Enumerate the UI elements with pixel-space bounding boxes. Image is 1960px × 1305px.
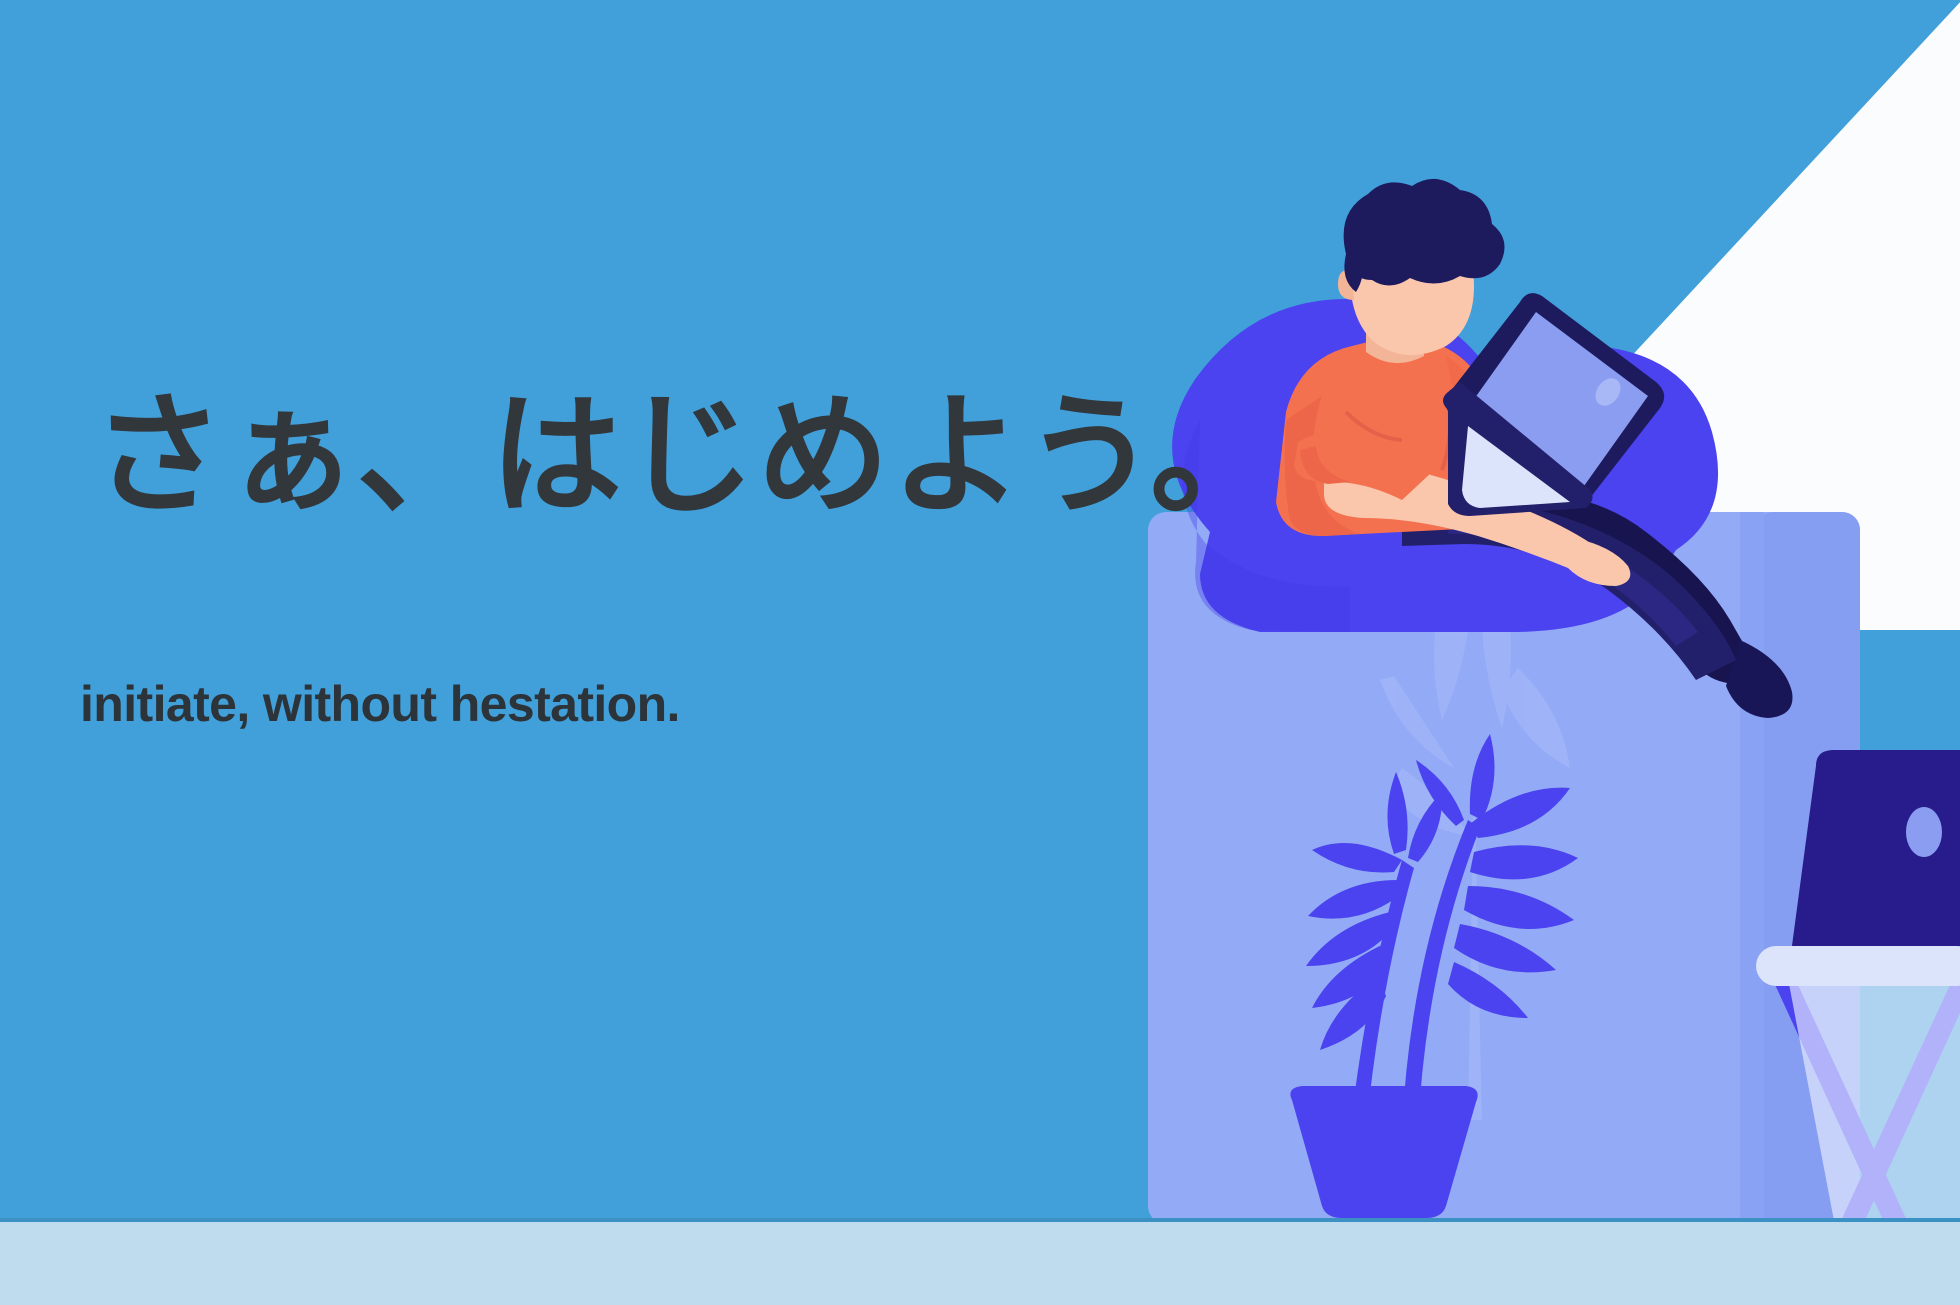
hero-illustration xyxy=(1050,120,1960,1305)
page-title: さぁ、はじめよう。 xyxy=(92,390,1284,522)
slide-canvas: さぁ、はじめよう。 initiate, without hestation. xyxy=(0,0,1960,1305)
page-subtitle: initiate, without hestation. xyxy=(80,679,680,729)
footer-band xyxy=(0,1222,1960,1305)
